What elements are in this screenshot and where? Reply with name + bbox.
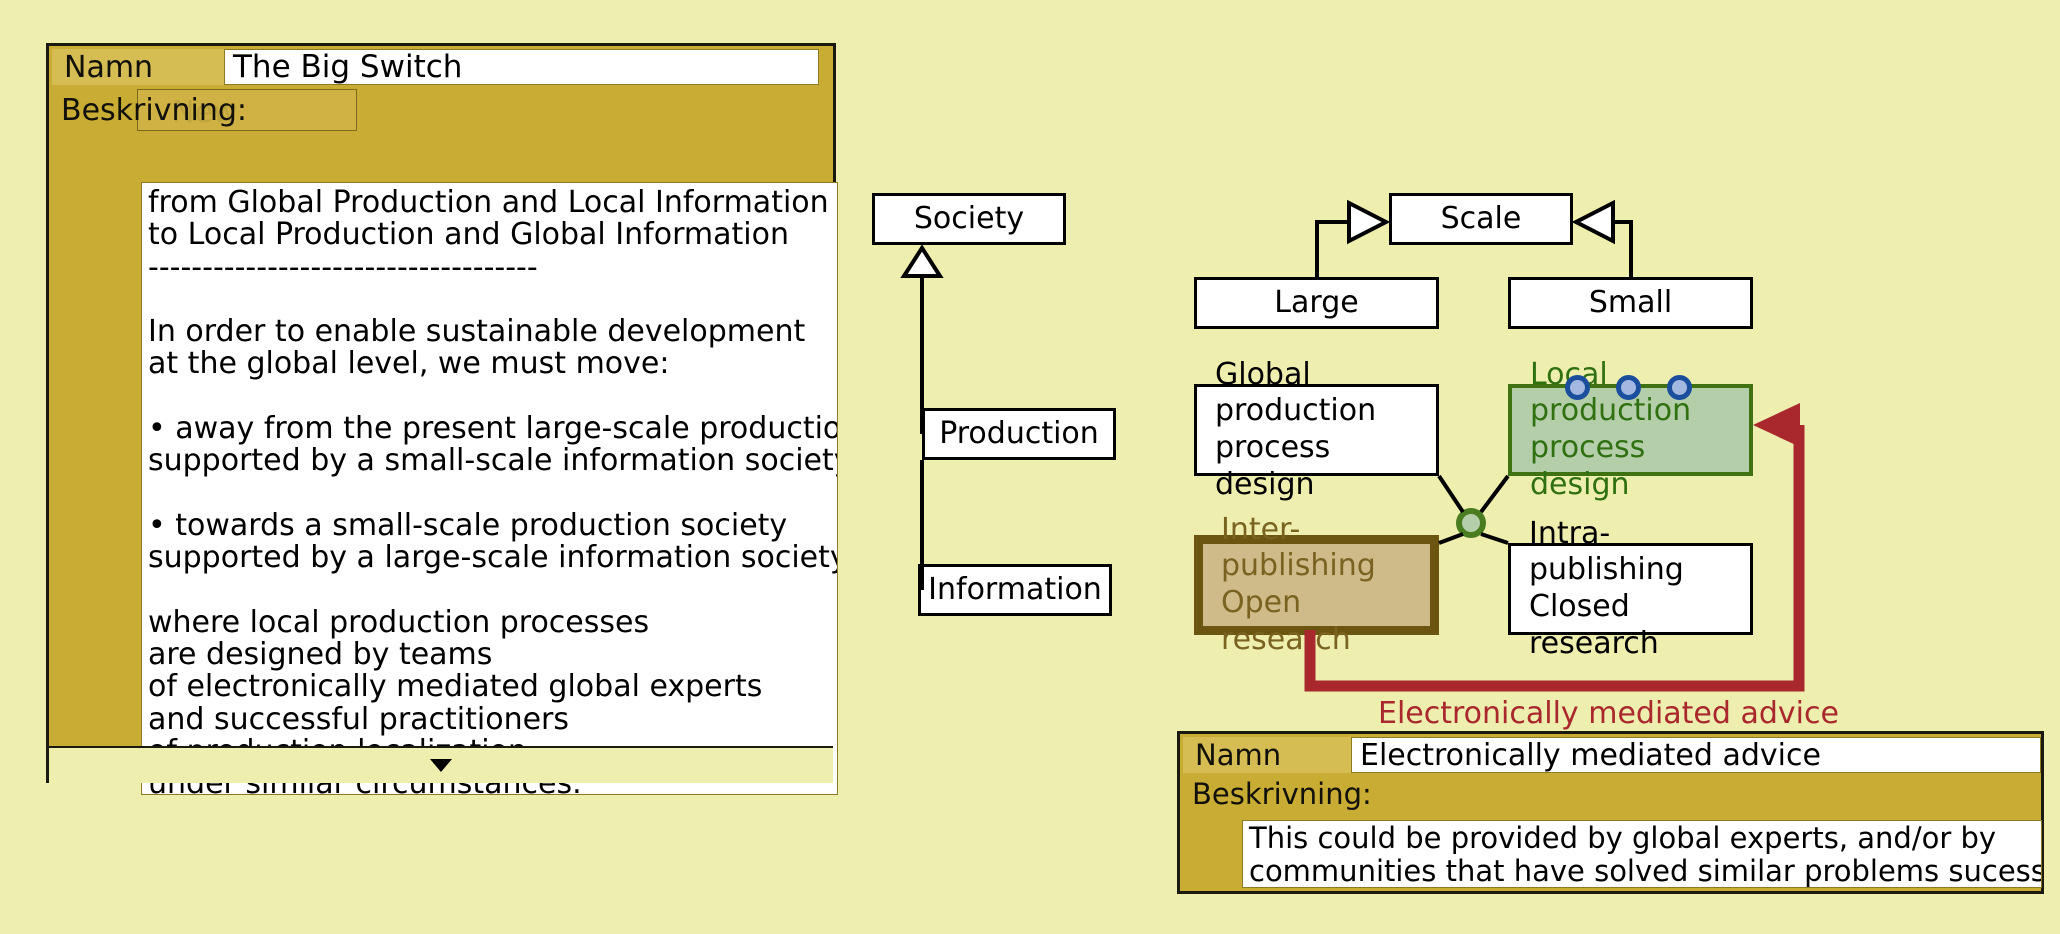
- description-textarea[interactable]: from Global Production and Local Informa…: [141, 182, 838, 795]
- node-scale[interactable]: Scale: [1389, 193, 1573, 245]
- generalization-arrowhead-small: [1576, 203, 1613, 241]
- node-production[interactable]: Production: [922, 408, 1116, 460]
- node-intra-publishing-closed-research[interactable]: Intra-publishing Closed research: [1508, 543, 1753, 635]
- advice-name-label: Namn: [1183, 737, 1351, 773]
- node-society[interactable]: Society: [872, 193, 1066, 245]
- scale-generalization-small: [1613, 222, 1631, 277]
- node-large[interactable]: Large: [1194, 277, 1439, 329]
- advice-name-input[interactable]: Electronically mediated advice: [1351, 737, 2041, 773]
- generalization-arrowhead-large: [1349, 203, 1386, 241]
- node-global-production-process-design[interactable]: Global production process design: [1194, 384, 1439, 476]
- panel-expander-bar[interactable]: [49, 746, 833, 783]
- node-information[interactable]: Information: [918, 564, 1112, 616]
- big-switch-property-panel[interactable]: Namn The Big Switch New Beskrivning: fro…: [46, 43, 836, 783]
- node-inter-publishing-open-research[interactable]: Inter-publishing Open research: [1194, 535, 1439, 635]
- node-small[interactable]: Small: [1508, 277, 1753, 329]
- red-arrowhead: [1753, 403, 1800, 447]
- status-dot-3[interactable]: [1667, 375, 1692, 400]
- scale-generalization-large: [1317, 222, 1349, 277]
- name-row: Namn The Big Switch: [52, 49, 836, 85]
- advice-description-textarea[interactable]: This could be provided by global experts…: [1242, 820, 2042, 888]
- status-dot-2[interactable]: [1616, 375, 1641, 400]
- status-dot-1[interactable]: [1565, 375, 1590, 400]
- triangle-down-icon[interactable]: [430, 759, 452, 772]
- advice-name-row: Namn Electronically mediated advice: [1183, 737, 2044, 773]
- name-input[interactable]: The Big Switch: [224, 49, 819, 85]
- name-label: Namn: [52, 49, 224, 85]
- description-label: Beskrivning:: [61, 90, 321, 130]
- electronically-mediated-advice-label: Electronically mediated advice: [1378, 696, 1839, 731]
- generalization-arrowhead-society: [904, 248, 940, 276]
- advice-description-label: Beskrivning:: [1192, 774, 1492, 814]
- advice-property-panel[interactable]: Namn Electronically mediated advice Besk…: [1177, 731, 2044, 894]
- green-circle-junction[interactable]: [1456, 508, 1486, 538]
